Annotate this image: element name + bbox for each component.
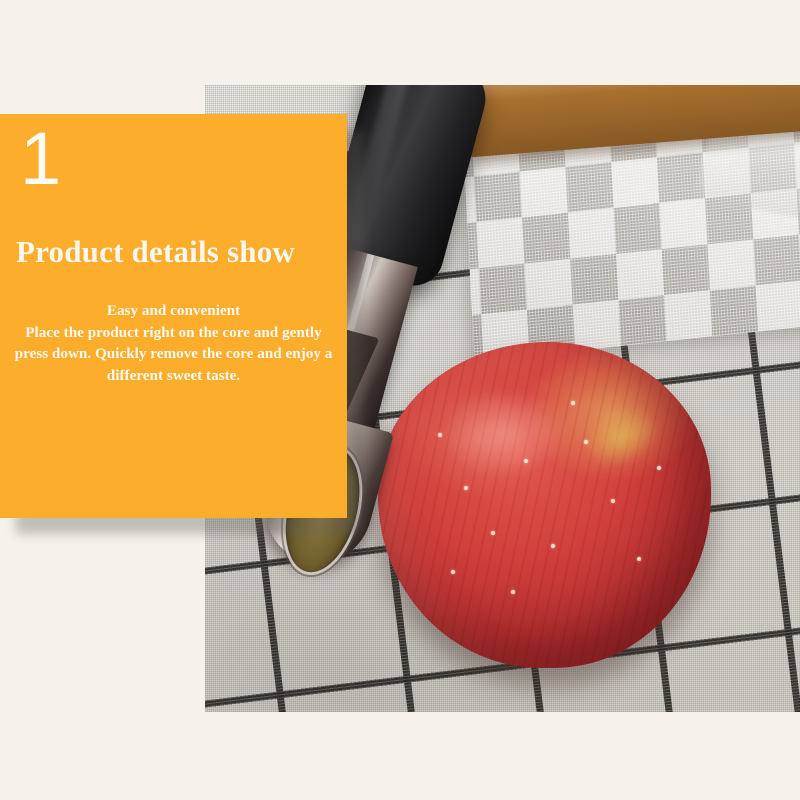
page-title: Product details show (0, 236, 347, 269)
apple-lenticel (551, 544, 555, 548)
info-panel: 1 Product details show Easy and convenie… (0, 114, 347, 518)
apple-lenticel (611, 499, 615, 503)
panel-body-text: Place the product right on the core and … (8, 322, 339, 387)
step-number: 1 (20, 122, 60, 196)
panel-lead-text: Easy and convenient (8, 300, 339, 322)
apple-lenticel (571, 401, 575, 405)
apple-lenticel (464, 486, 468, 490)
apple-lenticel (584, 440, 588, 444)
apple-lenticel (511, 590, 515, 594)
apple-lenticel (491, 531, 495, 535)
apple-lenticel (438, 433, 442, 437)
panel-description: Easy and convenient Place the product ri… (0, 300, 347, 386)
poster-canvas: 1 Product details show Easy and convenie… (0, 0, 800, 800)
red-apple (378, 342, 711, 668)
apple-highlight (418, 375, 591, 492)
